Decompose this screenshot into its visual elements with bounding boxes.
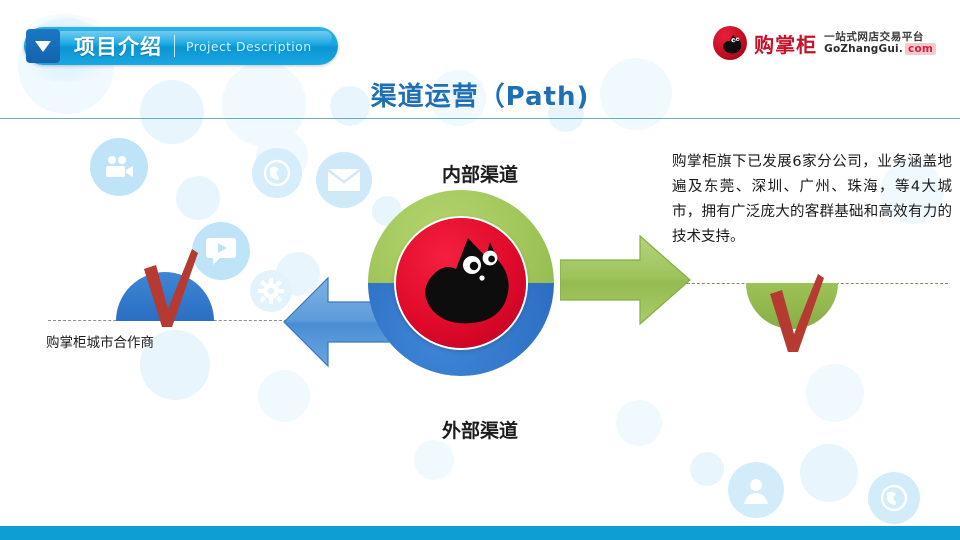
deco-bubble [258, 370, 310, 422]
slide-canvas: 项目介绍 Project Description 购掌柜 一站式网店交易平台 G… [0, 0, 960, 540]
title-divider [0, 118, 960, 119]
footer-bar [0, 526, 960, 540]
brand-taglines: 一站式网店交易平台 GoZhangGui.com [824, 31, 936, 55]
deco-bubble [690, 452, 724, 486]
brand-tagline: 一站式网店交易平台 [824, 31, 936, 43]
cat-mascot-icon [713, 26, 747, 60]
brand-website: GoZhangGui.com [824, 43, 936, 55]
deco-bubble [806, 364, 864, 422]
deco-bubble [414, 440, 454, 480]
brand-website-name: GoZhangGui. [824, 43, 903, 55]
chat-play-icon [192, 222, 250, 280]
section-tab-label-en: Project Description [186, 39, 312, 54]
tab-divider [174, 35, 175, 57]
channel-ring [368, 190, 554, 376]
outer-channel-label: 外部渠道 [0, 416, 960, 443]
section-tab-label-cn: 项目介绍 [74, 31, 162, 61]
user-icon [728, 462, 784, 518]
globe-icon [868, 472, 920, 524]
brand-name-cn: 购掌柜 [754, 29, 817, 58]
triangle-down-glyph [35, 41, 51, 52]
description-paragraph: 购掌柜旗下已发展6家分公司，业务涵盖地遍及东莞、深圳、广州、珠海，等4大城市，拥… [672, 150, 952, 250]
cat-mascot-icon [396, 218, 526, 348]
triangle-down-icon[interactable] [26, 29, 60, 63]
check-mark-icon [142, 247, 200, 329]
section-tab[interactable]: 项目介绍 Project Description [24, 27, 338, 65]
page-title: 渠道运营（Path) [0, 76, 960, 113]
check-mark-icon [768, 272, 826, 354]
deco-bubble [800, 444, 858, 502]
brand-website-tld: com [905, 43, 936, 55]
partner-label: 购掌柜城市合作商 [46, 331, 154, 351]
brand-logo: 购掌柜 一站式网店交易平台 GoZhangGui.com [713, 26, 936, 60]
